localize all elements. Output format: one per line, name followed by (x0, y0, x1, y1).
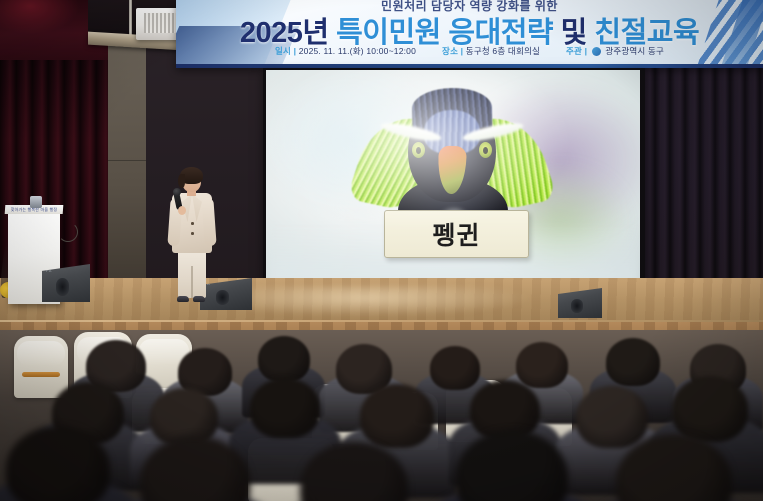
presenter-jacket-button (191, 232, 194, 235)
presenter-shoe (193, 296, 205, 302)
banner-host-label: 주관 | (566, 46, 587, 56)
audience-member-head (672, 376, 748, 442)
banner-date-label: 일시 | (275, 46, 296, 56)
banner-host: 주관 | 광주광역시 동구 (566, 45, 664, 57)
audience-member-head (360, 384, 434, 448)
screen-glow (266, 70, 640, 303)
wall-pillar (108, 42, 146, 300)
audience-chair (14, 336, 68, 398)
presenter-arm-right (201, 198, 216, 247)
banner-place: 장소 | 동구청 6층 대회의실 (442, 45, 540, 57)
microphone-head-icon (173, 188, 181, 196)
audience-member-head (516, 342, 568, 388)
presenter-trousers-seam (191, 266, 193, 298)
presenter-jacket-button (191, 222, 194, 225)
audience-member-head (606, 338, 660, 386)
lectern-microphone-icon (30, 196, 42, 208)
wall-pillar-seam (108, 160, 146, 161)
audience-member-head (258, 336, 310, 382)
banner-place-value: 동구청 6층 대회의실 (466, 46, 540, 56)
audience-area (0, 330, 763, 501)
banner-subtitle-row: 일시 | 2025. 11. 11.(화) 10:00~12:00 장소 | 동… (176, 45, 763, 57)
presenter-hair-side (178, 174, 185, 188)
speaker-grille-icon (56, 278, 68, 296)
lectern-cable-loop (58, 222, 78, 242)
chair-armrest (22, 372, 60, 377)
host-logo-icon (592, 47, 601, 56)
audience-member-head (430, 346, 480, 390)
banner-place-label: 장소 | (442, 46, 463, 56)
banner-date: 일시 | 2025. 11. 11.(화) 10:00~12:00 (275, 45, 416, 57)
projection-screen: 펭귄 (266, 70, 640, 303)
presenter (163, 170, 219, 306)
event-banner: 민원처리 담당자 역량 강화를 위한 2025년 특이민원 응대전략 및 친절교… (176, 0, 763, 68)
speaker-grille-icon (571, 299, 582, 313)
presenter-hand (178, 206, 186, 215)
audience-member-head (576, 386, 648, 448)
banner-date-value: 2025. 11. 11.(화) 10:00~12:00 (299, 46, 416, 56)
right-curtain (640, 40, 763, 310)
auditorium-scene: 민원처리 담당자 역량 강화를 위한 2025년 특이민원 응대전략 및 친절교… (0, 0, 763, 501)
banner-host-value: 광주광역시 동구 (605, 46, 664, 56)
presenter-shoe (177, 296, 189, 302)
audience-member-head (250, 378, 320, 438)
